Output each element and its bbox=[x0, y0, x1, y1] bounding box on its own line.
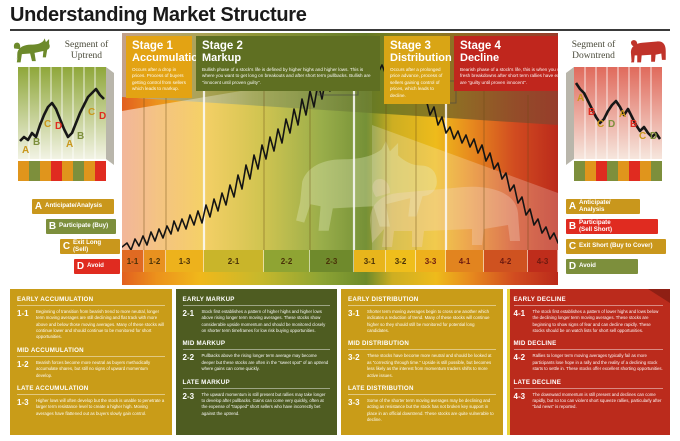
detail-panels: EARLY ACCUMULATION1-1Beginning of transi… bbox=[10, 289, 670, 435]
section-body: Higher lows will often develop but the s… bbox=[36, 398, 165, 417]
downtrend-title: Segment of Downtrend bbox=[561, 40, 626, 62]
substage-cell-4-1: 4-1 bbox=[446, 250, 484, 272]
section-item: 1-3Higher lows will often develop but th… bbox=[17, 398, 165, 417]
legend-row-b-short: B Participate (Sell Short) bbox=[566, 219, 658, 234]
legend-letter-a: A bbox=[32, 201, 45, 212]
legend-row-a: A Anticipate/Analysis bbox=[32, 199, 114, 214]
corner-fold bbox=[648, 289, 670, 303]
stage-4-name: Decline bbox=[460, 52, 558, 65]
section-item: 3-2These stocks have become more neutral… bbox=[348, 353, 496, 378]
panel-distribution: EARLY DISTRIBUTION3-1Shorter term moving… bbox=[341, 289, 503, 435]
section-code: 4-1 bbox=[514, 309, 529, 334]
stage-2-number: Stage 2 bbox=[202, 40, 375, 52]
section-body: The stock first establishes a pattern of… bbox=[533, 309, 664, 334]
legend-label-b: Participate (Buy) bbox=[59, 223, 110, 230]
panel-accumulation: EARLY ACCUMULATION1-1Beginning of transi… bbox=[10, 289, 172, 435]
stage-3-description: Occurs after a prolonged price advance, … bbox=[390, 67, 445, 100]
bull-icon bbox=[13, 38, 51, 64]
legend-label-d-short: Avoid bbox=[579, 263, 598, 270]
section-code: 4-3 bbox=[514, 392, 529, 411]
substage-cell-2-1: 2-1 bbox=[204, 250, 264, 272]
substage-cell-3-3: 3-3 bbox=[416, 250, 446, 272]
uptrend-panel: Segment of Uptrend bbox=[10, 33, 122, 285]
section-heading: EARLY DECLINE bbox=[514, 296, 664, 306]
svg-text:C: C bbox=[639, 131, 646, 142]
section-heading: MID ACCUMULATION bbox=[17, 347, 165, 357]
legend-label-a-short: Anticipate/ Analysis bbox=[579, 200, 613, 214]
section-body: Shorter term moving averages begin to cr… bbox=[367, 309, 496, 334]
svg-text:A: A bbox=[577, 93, 584, 104]
substage-cell-3-1: 3-1 bbox=[354, 250, 386, 272]
svg-text:C: C bbox=[88, 107, 95, 118]
legend-row-b: B Participate (Buy) bbox=[46, 219, 116, 234]
section-body: Pullbacks above the rising longer term a… bbox=[202, 353, 331, 372]
stage-4-number: Stage 4 bbox=[460, 40, 558, 52]
section-code: 2-2 bbox=[183, 353, 198, 372]
section-code: 4-2 bbox=[514, 353, 529, 372]
section-body: These stocks have become more neutral an… bbox=[367, 353, 496, 378]
section-item: 1-1Beginning of transition from bearish … bbox=[17, 309, 165, 341]
substage-cell-3-2: 3-2 bbox=[386, 250, 416, 272]
section-body: Stock first establishes a pattern of hig… bbox=[202, 309, 331, 334]
legend-letter-c: C bbox=[60, 241, 73, 252]
section-heading: MID DISTRIBUTION bbox=[348, 340, 496, 350]
stage-2-description: Bullish phase of a stock's life is defin… bbox=[202, 67, 375, 87]
legend-row-d-short: D Avoid bbox=[566, 259, 638, 274]
downtrend-mini-chart: A B C D A B C D bbox=[566, 67, 662, 195]
downtrend-legend: A Anticipate/ Analysis B Participate (Se… bbox=[564, 199, 668, 279]
stage-3-number: Stage 3 bbox=[390, 40, 445, 52]
section-body: The upward momentum is still present but… bbox=[202, 392, 331, 417]
stage-2-name: Markup bbox=[202, 52, 375, 65]
svg-text:C: C bbox=[597, 119, 604, 130]
section-code: 3-1 bbox=[348, 309, 363, 334]
title-divider bbox=[10, 29, 670, 31]
hero-band: Stage 1 Accumulation Occurs after a drop… bbox=[10, 33, 670, 285]
section-code: 2-3 bbox=[183, 392, 198, 417]
panel-edge bbox=[507, 289, 510, 435]
svg-text:B: B bbox=[630, 119, 637, 130]
section-code: 1-2 bbox=[17, 360, 32, 379]
svg-text:C: C bbox=[44, 119, 51, 130]
substage-cell-1-2: 1-2 bbox=[144, 250, 166, 272]
downtrend-header: Segment of Downtrend bbox=[558, 36, 670, 66]
section-heading: EARLY MARKUP bbox=[183, 296, 331, 306]
section-heading: EARLY ACCUMULATION bbox=[17, 296, 165, 306]
section-code: 3-2 bbox=[348, 353, 363, 378]
bear-icon bbox=[629, 38, 667, 64]
stage-1-number: Stage 1 bbox=[132, 40, 187, 52]
stage-card-4: Stage 4 Decline Bearish phase of a stock… bbox=[454, 36, 558, 91]
svg-text:D: D bbox=[650, 131, 657, 142]
stage-1-name: Accumulation bbox=[132, 52, 187, 65]
section-code: 2-1 bbox=[183, 309, 198, 334]
svg-text:B: B bbox=[588, 107, 595, 118]
legend-label-c-short: Exit Short (Buy to Cover) bbox=[579, 243, 655, 250]
legend-letter-a-short: A bbox=[566, 201, 579, 212]
substage-cell-2-3: 2-3 bbox=[310, 250, 354, 272]
substage-cell-4-3: 4-3 bbox=[528, 250, 558, 272]
legend-row-d: D Avoid bbox=[74, 259, 120, 274]
legend-label-d: Avoid bbox=[87, 263, 106, 270]
section-heading: LATE DISTRIBUTION bbox=[348, 385, 496, 395]
panel-markup: EARLY MARKUP2-1Stock first establishes a… bbox=[176, 289, 338, 435]
substage-ribbon: 1-11-21-32-12-22-33-13-23-34-14-24-3 bbox=[122, 250, 558, 272]
section-item: 4-2Rallies to longer term moving average… bbox=[514, 353, 664, 372]
main-chart-area: Stage 1 Accumulation Occurs after a drop… bbox=[122, 33, 558, 285]
svg-text:B: B bbox=[33, 137, 40, 148]
section-body: Rallies to longer term moving averages t… bbox=[533, 353, 664, 372]
section-item: 4-3The downward momentum is still presen… bbox=[514, 392, 664, 411]
downtrend-title-line2: Downtrend bbox=[561, 51, 626, 62]
stage-card-3: Stage 3 Distribution Occurs after a prol… bbox=[384, 36, 450, 104]
uptrend-phase-bars bbox=[18, 161, 106, 181]
uptrend-title-line1: Segment of bbox=[54, 40, 119, 51]
downtrend-panel: Segment of Downtrend bbox=[558, 33, 670, 285]
section-heading: LATE MARKUP bbox=[183, 379, 331, 389]
legend-letter-c-short: C bbox=[566, 241, 579, 252]
svg-text:D: D bbox=[99, 111, 106, 122]
section-item: 4-1The stock first establishes a pattern… bbox=[514, 309, 664, 334]
svg-text:B: B bbox=[77, 131, 84, 142]
svg-text:D: D bbox=[608, 119, 615, 130]
legend-row-c: C Exit Long (Sell) bbox=[60, 239, 120, 254]
uptrend-legend: A Anticipate/Analysis B Participate (Buy… bbox=[16, 199, 120, 279]
section-item: 2-2Pullbacks above the rising longer ter… bbox=[183, 353, 331, 372]
section-body: Bearish forces become more neutral as bu… bbox=[36, 360, 165, 379]
section-item: 3-1Shorter term moving averages begin to… bbox=[348, 309, 496, 334]
substage-cell-2-2: 2-2 bbox=[264, 250, 310, 272]
stage-card-2: Stage 2 Markup Bullish phase of a stock'… bbox=[196, 36, 380, 91]
stage-3-name: Distribution bbox=[390, 52, 445, 65]
stage-4-description: Bearish phase of a stock's life, this is… bbox=[460, 67, 558, 87]
legend-letter-b: B bbox=[46, 221, 59, 232]
legend-label-a: Anticipate/Analysis bbox=[45, 203, 104, 210]
section-heading: MID DECLINE bbox=[514, 340, 664, 350]
section-code: 1-1 bbox=[17, 309, 32, 341]
svg-text:A: A bbox=[66, 139, 73, 150]
section-body: Beginning of transition from bearish tre… bbox=[36, 309, 165, 341]
substage-cell-1-3: 1-3 bbox=[166, 250, 204, 272]
svg-text:A: A bbox=[22, 145, 29, 156]
section-code: 3-3 bbox=[348, 398, 363, 423]
infographic-page: Understanding Market Structure bbox=[0, 0, 680, 441]
section-heading: MID MARKUP bbox=[183, 340, 331, 350]
section-heading: LATE DECLINE bbox=[514, 379, 664, 389]
section-item: 2-1Stock first establishes a pattern of … bbox=[183, 309, 331, 334]
substage-cell-4-2: 4-2 bbox=[484, 250, 528, 272]
section-heading: EARLY DISTRIBUTION bbox=[348, 296, 496, 306]
legend-letter-b-short: B bbox=[566, 221, 579, 232]
uptrend-title-line2: Uptrend bbox=[54, 51, 119, 62]
panel-decline: EARLY DECLINE4-1The stock first establis… bbox=[507, 289, 671, 435]
page-title: Understanding Market Structure bbox=[10, 4, 307, 27]
substage-cell-1-1: 1-1 bbox=[122, 250, 144, 272]
legend-letter-d: D bbox=[74, 261, 87, 272]
section-item: 3-3Some of the shorter term moving avera… bbox=[348, 398, 496, 423]
section-item: 1-2Bearish forces become more neutral as… bbox=[17, 360, 165, 379]
svg-text:D: D bbox=[55, 121, 62, 132]
legend-letter-d-short: D bbox=[566, 261, 579, 272]
downtrend-title-line1: Segment of bbox=[561, 40, 626, 51]
section-item: 2-3The upward momentum is still present … bbox=[183, 392, 331, 417]
section-heading: LATE ACCUMULATION bbox=[17, 385, 165, 395]
svg-text:A: A bbox=[619, 109, 626, 120]
downtrend-phase-bars bbox=[574, 161, 662, 181]
legend-row-c-short: C Exit Short (Buy to Cover) bbox=[566, 239, 666, 254]
section-body: The downward momentum is still present a… bbox=[533, 392, 664, 411]
stage-card-1: Stage 1 Accumulation Occurs after a drop… bbox=[126, 36, 192, 98]
section-code: 1-3 bbox=[17, 398, 32, 417]
uptrend-header: Segment of Uptrend bbox=[10, 36, 122, 66]
legend-label-b-short: Participate (Sell Short) bbox=[579, 220, 614, 234]
legend-label-c: Exit Long (Sell) bbox=[73, 240, 120, 254]
stage-1-description: Occurs after a drop in prices. Process o… bbox=[132, 67, 187, 93]
uptrend-mini-chart: A B C D A B C D bbox=[18, 67, 114, 195]
section-body: Some of the shorter term moving averages… bbox=[367, 398, 496, 423]
legend-row-a-short: A Anticipate/ Analysis bbox=[566, 199, 640, 214]
uptrend-title: Segment of Uptrend bbox=[54, 40, 119, 62]
